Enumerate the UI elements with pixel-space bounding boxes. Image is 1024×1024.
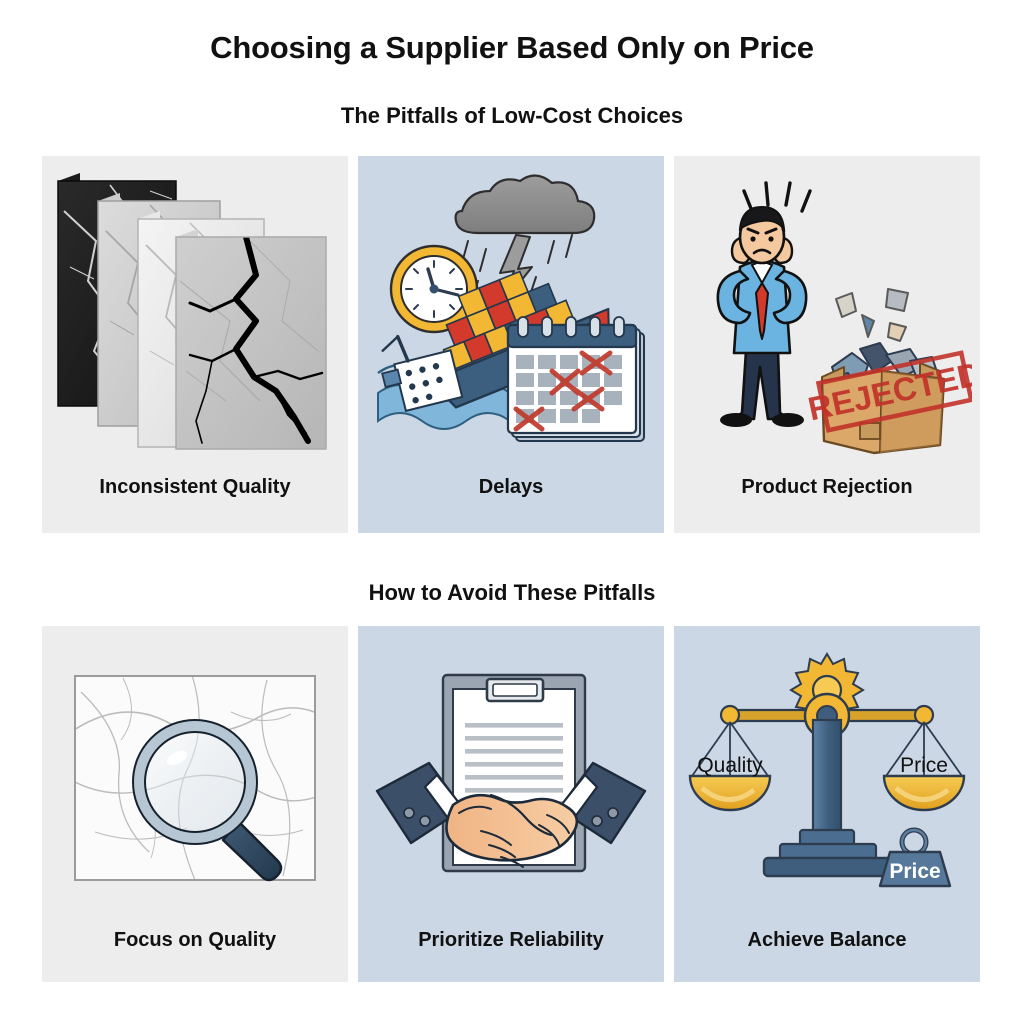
price-weight-label: Price xyxy=(889,860,940,883)
card-achieve-balance[interactable]: Quality Price xyxy=(674,626,980,982)
card-inconsistent-quality[interactable]: Inconsistent Quality xyxy=(42,156,348,533)
balance-scale-icon: Quality Price xyxy=(674,626,980,929)
card-label: Inconsistent Quality xyxy=(99,476,290,533)
price-weight: Price xyxy=(880,830,950,886)
card-product-rejection[interactable]: REJECTED Product Rejection xyxy=(674,156,980,533)
sinking-ship-storm-clock-calendar-icon xyxy=(358,156,664,476)
card-focus-on-quality[interactable]: Focus on Quality xyxy=(42,626,348,982)
frustrated-man xyxy=(718,207,806,427)
card-prioritize-reliability[interactable]: Prioritize Reliability xyxy=(358,626,664,982)
frustrated-man-rejected-box-icon: REJECTED xyxy=(674,156,980,476)
card-label: Focus on Quality xyxy=(114,929,276,982)
pitfalls-row: Inconsistent Quality xyxy=(42,156,980,533)
storm-cloud xyxy=(456,175,595,233)
solutions-row: Focus on Quality xyxy=(42,626,980,982)
section-title: How to Avoid These Pitfalls xyxy=(0,580,1024,606)
right-pan: Price xyxy=(884,722,964,810)
card-label: Achieve Balance xyxy=(748,929,907,982)
card-label: Product Rejection xyxy=(741,476,912,533)
infographic-page: Choosing a Supplier Based Only on Price … xyxy=(0,0,1024,1024)
card-delays[interactable]: Delays xyxy=(358,156,664,533)
left-pan-label: Quality xyxy=(697,754,763,777)
left-pan: Quality xyxy=(690,722,770,810)
magnifying-glass-marble-icon xyxy=(42,626,348,929)
card-label: Delays xyxy=(479,476,544,533)
calendar xyxy=(508,317,644,441)
rejected-box: REJECTED xyxy=(804,343,972,453)
marble-slabs-cracked-icon xyxy=(42,156,348,476)
card-label: Prioritize Reliability xyxy=(418,929,604,982)
page-subtitle: The Pitfalls of Low-Cost Choices xyxy=(0,103,1024,129)
scale-post xyxy=(764,720,892,876)
page-title: Choosing a Supplier Based Only on Price xyxy=(0,30,1024,66)
handshake-clipboard-icon xyxy=(358,626,664,929)
right-pan-label: Price xyxy=(900,754,948,777)
